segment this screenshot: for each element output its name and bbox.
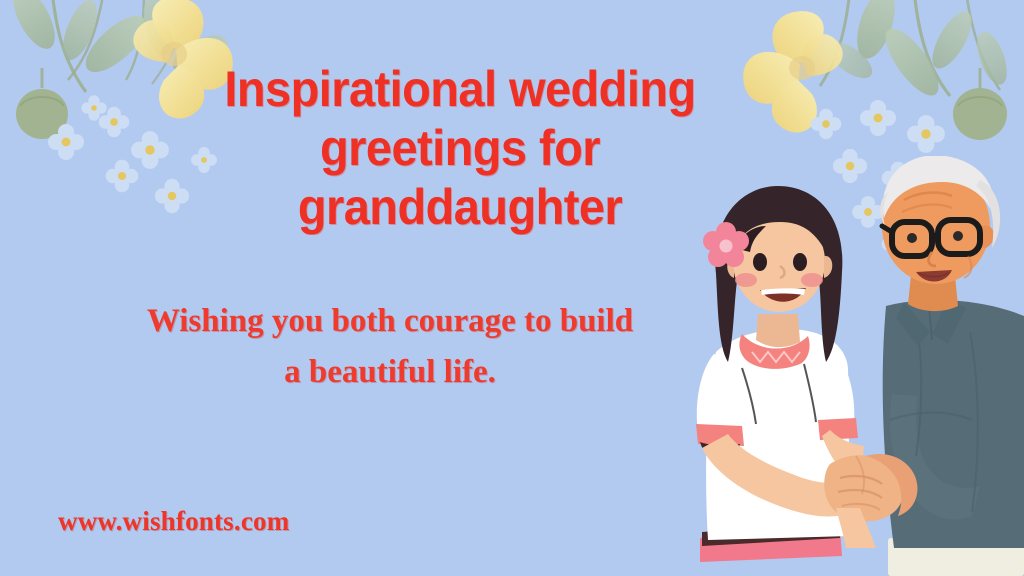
greeting-card: Inspirational wedding greetings for gran…: [0, 0, 1024, 576]
greeting-message: Wishing you both courage to build a beau…: [60, 296, 720, 398]
subtitle-line-1: Wishing you both courage to build: [60, 296, 720, 347]
website-url[interactable]: www.wishfonts.com: [58, 506, 289, 537]
title-line-3: granddaughter: [131, 178, 789, 237]
title-line-2: greetings for: [131, 119, 789, 178]
page-title: Inspirational wedding greetings for gran…: [131, 60, 789, 237]
subtitle-line-2: a beautiful life.: [60, 347, 720, 398]
title-line-1: Inspirational wedding: [131, 60, 789, 119]
